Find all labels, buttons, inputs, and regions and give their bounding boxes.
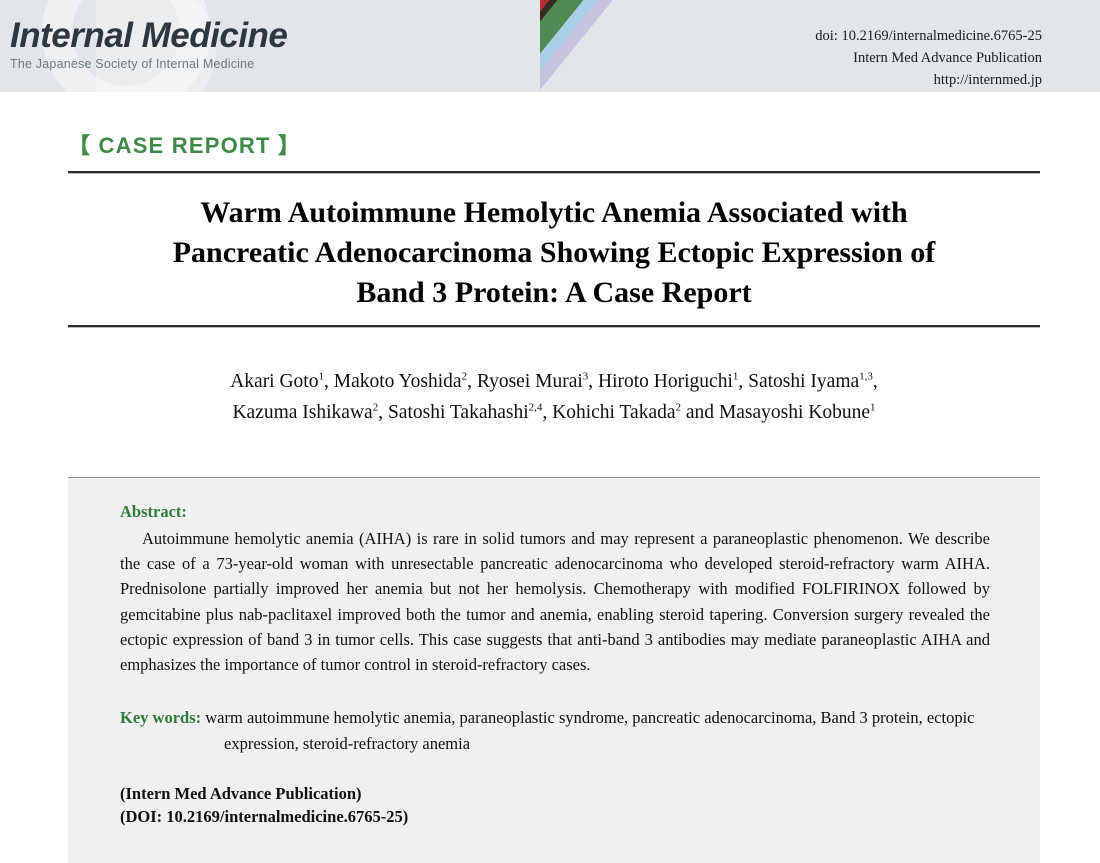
author-name: Masayoshi Kobune1 [719, 402, 876, 423]
author-affiliation-marker: 2 [462, 371, 468, 383]
publication-info: (Intern Med Advance Publication) (DOI: 1… [120, 782, 990, 829]
author-name: Satoshi Iyama1,3 [748, 371, 873, 392]
journal-website-line[interactable]: http://internmed.jp [815, 70, 1042, 92]
author-name: Makoto Yoshida2 [334, 371, 467, 392]
author-name: Satoshi Takahashi2,4 [388, 402, 542, 423]
divider-top [68, 171, 1040, 174]
title-line-1: Warm Autoimmune Hemolytic Anemia Associa… [68, 193, 1040, 233]
abstract-panel: Abstract: Autoimmune hemolytic anemia (A… [68, 478, 1040, 863]
author-affiliation-marker: 2,4 [529, 402, 543, 414]
journal-title: Internal Medicine [10, 18, 287, 53]
author-affiliation-marker: 1 [870, 402, 876, 414]
doi-info-block: doi: 10.2169/internalmedicine.6765-25 In… [815, 26, 1042, 91]
author-name: Ryosei Murai3 [477, 371, 588, 392]
abstract-text: Autoimmune hemolytic anemia (AIHA) is ra… [120, 526, 990, 677]
author-affiliation-marker: 1 [318, 371, 324, 383]
title-line-3: Band 3 Protein: A Case Report [68, 273, 1040, 313]
keywords-label: Key words: [120, 708, 201, 727]
author-affiliation-marker: 1 [733, 371, 739, 383]
author-affiliation-marker: 1,3 [859, 371, 873, 383]
keywords-text: warm autoimmune hemolytic anemia, parane… [205, 708, 974, 752]
author-affiliation-marker: 2 [676, 402, 682, 414]
abstract-heading: Abstract: [120, 502, 990, 522]
keywords-block: Key words: warm autoimmune hemolytic ane… [120, 705, 990, 755]
publication-status-line: (Intern Med Advance Publication) [120, 782, 990, 805]
author-line-1: Akari Goto1, Makoto Yoshida2, Ryosei Mur… [68, 366, 1040, 397]
page-title: Warm Autoimmune Hemolytic Anemia Associa… [68, 193, 1040, 313]
author-name: Kazuma Ishikawa2 [232, 402, 378, 423]
author-name: Akari Goto1 [230, 371, 324, 392]
divider-middle [68, 325, 1040, 328]
author-line-2: Kazuma Ishikawa2, Satoshi Takahashi2,4, … [68, 397, 1040, 428]
author-name: Hiroto Horiguchi1 [598, 371, 738, 392]
author-name: Kohichi Takada2 [552, 402, 681, 423]
doi-reference-line: (DOI: 10.2169/internalmedicine.6765-25) [120, 805, 990, 828]
journal-header: Internal Medicine The Japanese Society o… [0, 0, 1100, 92]
author-affiliation-marker: 3 [583, 371, 589, 383]
journal-branding: Internal Medicine The Japanese Society o… [10, 18, 287, 71]
title-line-2: Pancreatic Adenocarcinoma Showing Ectopi… [68, 233, 1040, 273]
author-list: Akari Goto1, Makoto Yoshida2, Ryosei Mur… [68, 366, 1040, 428]
author-affiliation-marker: 2 [373, 402, 379, 414]
article-type-label: 【 CASE REPORT 】 [68, 128, 301, 160]
decorative-diagonal-ribbon [540, 0, 770, 92]
advance-publication-line: Intern Med Advance Publication [815, 48, 1042, 70]
doi-line: doi: 10.2169/internalmedicine.6765-25 [815, 26, 1042, 48]
journal-subtitle: The Japanese Society of Internal Medicin… [10, 57, 287, 71]
